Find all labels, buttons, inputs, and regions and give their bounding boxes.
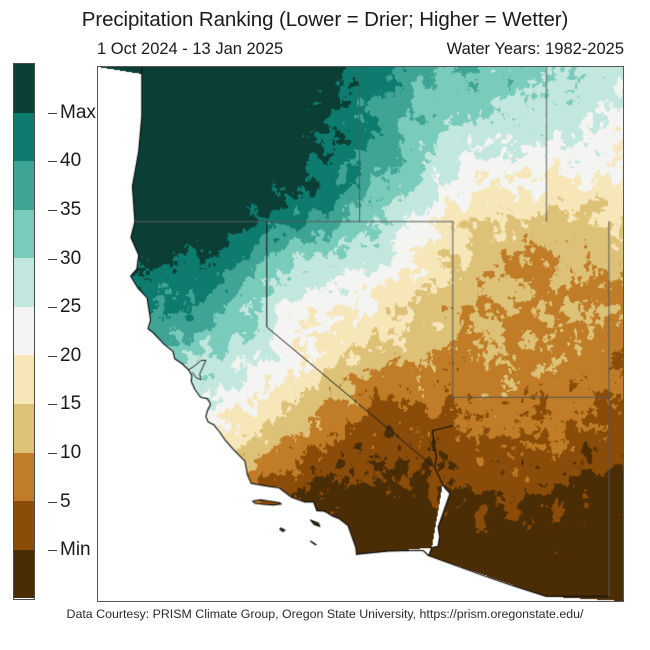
colorbar-band-10 bbox=[14, 550, 34, 599]
colorbar-band-9 bbox=[14, 501, 34, 550]
colorbar-tick-9 bbox=[48, 550, 57, 551]
colorbar-legend: Max403530252015105Min bbox=[13, 63, 35, 600]
colorbar-tick-label-5: 20 bbox=[60, 345, 81, 367]
colorbar-band-7 bbox=[14, 404, 34, 453]
colorbar-tick-6 bbox=[48, 404, 57, 405]
colorbar-tick-0 bbox=[48, 113, 57, 114]
colorbar-band-0 bbox=[14, 64, 34, 113]
colorbar-band-3 bbox=[14, 210, 34, 259]
colorbar-tick-4 bbox=[48, 307, 57, 308]
colorbar-band-1 bbox=[14, 113, 34, 162]
colorbar-tick-label-8: 5 bbox=[60, 491, 71, 513]
precipitation-ranking-map-figure: Precipitation Ranking (Lower = Drier; Hi… bbox=[0, 0, 650, 650]
date-range-label: 1 Oct 2024 - 13 Jan 2025 bbox=[97, 40, 283, 59]
colorbar-band-4 bbox=[14, 258, 34, 307]
colorbar-tick-5 bbox=[48, 356, 57, 357]
colorbar-tick-label-3: 30 bbox=[60, 248, 81, 270]
water-years-label: Water Years: 1982-2025 bbox=[447, 40, 624, 59]
colorbar-tick-7 bbox=[48, 453, 57, 454]
colorbar-gradient bbox=[13, 63, 35, 600]
data-source-caption: Data Courtesy: PRISM Climate Group, Oreg… bbox=[0, 607, 650, 621]
colorbar-tick-label-7: 10 bbox=[60, 442, 81, 464]
colorbar-tick-label-2: 35 bbox=[60, 199, 81, 221]
colorbar-band-2 bbox=[14, 161, 34, 210]
page-title: Precipitation Ranking (Lower = Drier; Hi… bbox=[0, 8, 650, 32]
colorbar-tick-2 bbox=[48, 210, 57, 211]
colorbar-tick-3 bbox=[48, 259, 57, 260]
colorbar-tick-label-9: Min bbox=[60, 539, 91, 561]
colorbar-band-5 bbox=[14, 307, 34, 356]
colorbar-tick-label-1: 40 bbox=[60, 150, 81, 172]
colorbar-tick-label-0: Max bbox=[60, 102, 96, 124]
precipitation-ranking-raster bbox=[98, 67, 623, 601]
colorbar-band-6 bbox=[14, 355, 34, 404]
colorbar-tick-8 bbox=[48, 502, 57, 503]
map-panel bbox=[97, 66, 624, 602]
colorbar-band-8 bbox=[14, 453, 34, 502]
colorbar-tick-label-4: 25 bbox=[60, 296, 81, 318]
colorbar-tick-label-6: 15 bbox=[60, 393, 81, 415]
colorbar-tick-1 bbox=[48, 161, 57, 162]
